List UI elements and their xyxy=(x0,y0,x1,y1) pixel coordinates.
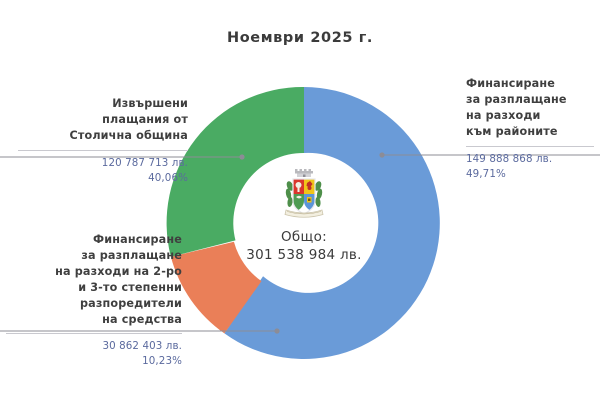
callout-bottomleft-title: Финансиранеза разплащанена разходи на 2-… xyxy=(6,232,182,327)
leader-dot-right xyxy=(379,152,384,157)
leader-dot-bottomleft xyxy=(274,328,279,333)
callout-topleft[interactable]: Извършениплащания отСтолична община 120 … xyxy=(18,96,188,186)
callout-topleft-value: 120 787 713 лв. xyxy=(18,156,188,171)
callout-bottomleft-rule xyxy=(6,333,182,334)
callout-topleft-rule xyxy=(18,150,188,151)
callout-right-rule xyxy=(466,146,594,147)
callout-right-title: Финансиранеза разплащанена разходикъм ра… xyxy=(466,76,594,140)
callout-bottomleft-percent: 10,23% xyxy=(6,354,182,369)
chart-canvas: Ноември 2025 г. xyxy=(0,0,600,400)
callout-bottomleft[interactable]: Финансиранеза разплащанена разходи на 2-… xyxy=(6,232,182,369)
leader-dot-topleft xyxy=(239,154,244,159)
callout-topleft-title: Извършениплащания отСтолична община xyxy=(18,96,188,144)
callout-right[interactable]: Финансиранеза разплащанена разходикъм ра… xyxy=(466,76,594,181)
callout-right-value: 149 888 868 лв. xyxy=(466,152,594,167)
callout-topleft-percent: 40,06% xyxy=(18,171,188,186)
callout-right-percent: 49,71% xyxy=(466,167,594,182)
callout-bottomleft-value: 30 862 403 лв. xyxy=(6,339,182,354)
